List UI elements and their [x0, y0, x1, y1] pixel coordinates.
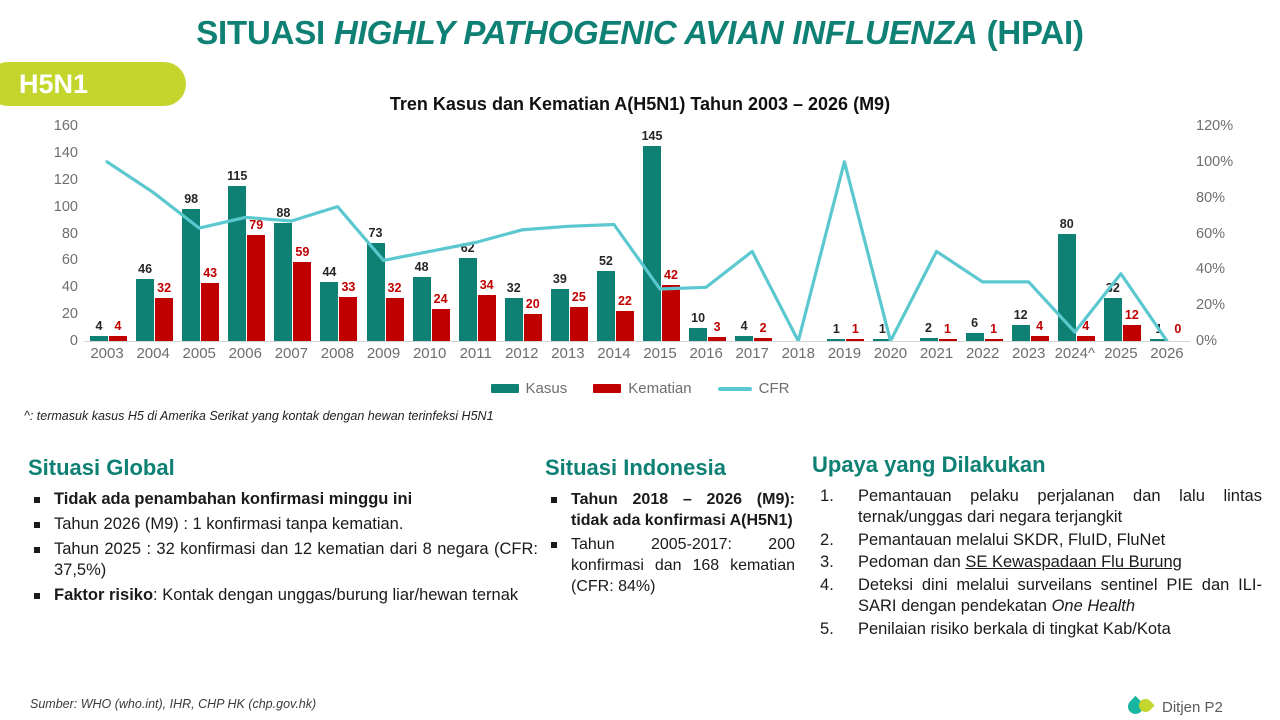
legend-swatch-kematian [593, 384, 621, 393]
y-tick-left: 60 [62, 252, 78, 268]
cfr-line-series [84, 126, 1190, 341]
x-tick-label: 2016 [689, 345, 722, 362]
x-tick-label: 2010 [413, 345, 446, 362]
legend-item-kasus: Kasus [491, 380, 568, 397]
list-item: Tahun 2018 – 2026 (M9): tidak ada konfir… [545, 489, 795, 531]
x-tick-label: 2006 [229, 345, 262, 362]
chart-title: Tren Kasus dan Kematian A(H5N1) Tahun 20… [0, 94, 1280, 115]
x-tick-label: 2013 [551, 345, 584, 362]
section-heading-indonesia: Situasi Indonesia [545, 455, 795, 481]
x-tick-label: 2007 [275, 345, 308, 362]
section-heading-global: Situasi Global [28, 455, 538, 481]
y-tick-right: 120% [1196, 118, 1233, 134]
x-tick-label: 2014 [597, 345, 630, 362]
chart-footnote: ^: termasuk kasus H5 di Amerika Serikat … [24, 409, 494, 423]
legend-item-kematian: Kematian [593, 380, 691, 397]
list-item: Pemantauan melalui SKDR, FluID, FluNet [812, 530, 1262, 551]
y-tick-left: 20 [62, 306, 78, 322]
list-item[interactable]: Pedoman dan SE Kewaspadaan Flu Burung [812, 552, 1262, 573]
section-situasi-global: Situasi Global Tidak ada penambahan konf… [28, 455, 538, 610]
x-tick-label: 2015 [643, 345, 676, 362]
y-tick-left: 100 [54, 199, 78, 215]
x-tick-label: 2019 [828, 345, 861, 362]
document-link[interactable]: SE Kewaspadaan Flu Burung [965, 553, 1181, 571]
y-axis-left: 020406080100120140160 [28, 126, 78, 348]
title-part-1: SITUASI [196, 14, 334, 51]
title-part-2: (HPAI) [978, 14, 1084, 51]
y-tick-right: 60% [1196, 226, 1225, 242]
hpai-trend-chart: 020406080100120140160 0%20%40%60%80%100%… [0, 126, 1280, 366]
y-tick-right: 20% [1196, 297, 1225, 313]
x-tick-label: 2021 [920, 345, 953, 362]
list-item: Deteksi dini melalui surveilans sentinel… [812, 575, 1262, 618]
brand-logo: Ditjen P2 [1128, 697, 1223, 717]
y-tick-left: 140 [54, 145, 78, 161]
leaf-logo-icon [1128, 697, 1154, 717]
list-item: Faktor risiko: Kontak dengan unggas/buru… [28, 585, 538, 607]
x-tick-label: 2022 [966, 345, 999, 362]
legend-label-cfr: CFR [759, 380, 790, 397]
indonesia-bullet-list: Tahun 2018 – 2026 (M9): tidak ada konfir… [545, 489, 795, 598]
list-item: Tahun 2025 : 32 konfirmasi dan 12 kemati… [28, 539, 538, 583]
legend-label-kematian: Kematian [628, 380, 691, 397]
x-tick-label: 2018 [782, 345, 815, 362]
x-tick-label: 2020 [874, 345, 907, 362]
y-tick-right: 40% [1196, 261, 1225, 277]
x-tick-label: 2009 [367, 345, 400, 362]
upaya-numbered-list: Pemantauan pelaku perjalanan dan lalu li… [812, 486, 1262, 640]
legend-item-cfr: CFR [718, 380, 790, 397]
x-axis-labels: 2003200420052006200720082009201020112012… [84, 345, 1190, 371]
global-bullet-list: Tidak ada penambahan konfirmasi minggu i… [28, 489, 538, 607]
cfr-polyline [107, 162, 1167, 341]
emphasis-text: One Health [1052, 597, 1135, 615]
x-tick-label: 2024^ [1055, 345, 1095, 362]
legend-label-kasus: Kasus [526, 380, 568, 397]
y-tick-right: 80% [1196, 190, 1225, 206]
y-tick-left: 0 [70, 333, 78, 349]
section-heading-upaya: Upaya yang Dilakukan [812, 452, 1262, 478]
section-situasi-indonesia: Situasi Indonesia Tahun 2018 – 2026 (M9)… [545, 455, 795, 601]
y-tick-right: 0% [1196, 333, 1217, 349]
list-item: Penilaian risiko berkala di tingkat Kab/… [812, 619, 1262, 640]
y-tick-left: 160 [54, 118, 78, 134]
page-title: SITUASI HIGHLY PATHOGENIC AVIAN INFLUENZ… [0, 14, 1280, 52]
title-part-italic: HIGHLY PATHOGENIC AVIAN INFLUENZA [334, 14, 978, 51]
list-item: Tahun 2005-2017: 200 konfirmasi dan 168 … [545, 534, 795, 597]
section-upaya-dilakukan: Upaya yang Dilakukan Pemantauan pelaku p… [812, 452, 1262, 641]
x-tick-label: 2023 [1012, 345, 1045, 362]
legend-swatch-kasus [491, 384, 519, 393]
y-tick-right: 100% [1196, 154, 1233, 170]
y-axis-right: 0%20%40%60%80%100%120% [1196, 126, 1256, 348]
chart-baseline [84, 341, 1190, 342]
x-tick-label: 2017 [736, 345, 769, 362]
list-item: Tidak ada penambahan konfirmasi minggu i… [28, 489, 538, 511]
x-tick-label: 2008 [321, 345, 354, 362]
x-tick-label: 2026 [1150, 345, 1183, 362]
y-tick-left: 80 [62, 226, 78, 242]
x-tick-label: 2005 [183, 345, 216, 362]
brand-name: Ditjen P2 [1162, 699, 1223, 716]
x-tick-label: 2003 [90, 345, 123, 362]
list-item: Pemantauan pelaku perjalanan dan lalu li… [812, 486, 1262, 529]
x-tick-label: 2025 [1104, 345, 1137, 362]
y-tick-left: 40 [62, 279, 78, 295]
source-citation: Sumber: WHO (who.int), IHR, CHP HK (chp.… [30, 697, 316, 711]
y-tick-left: 120 [54, 172, 78, 188]
x-tick-label: 2012 [505, 345, 538, 362]
x-tick-label: 2011 [460, 345, 492, 362]
legend-swatch-cfr [718, 387, 752, 391]
list-item: Tahun 2026 (M9) : 1 konfirmasi tanpa kem… [28, 514, 538, 536]
x-tick-label: 2004 [136, 345, 169, 362]
chart-legend: Kasus Kematian CFR [0, 380, 1280, 397]
